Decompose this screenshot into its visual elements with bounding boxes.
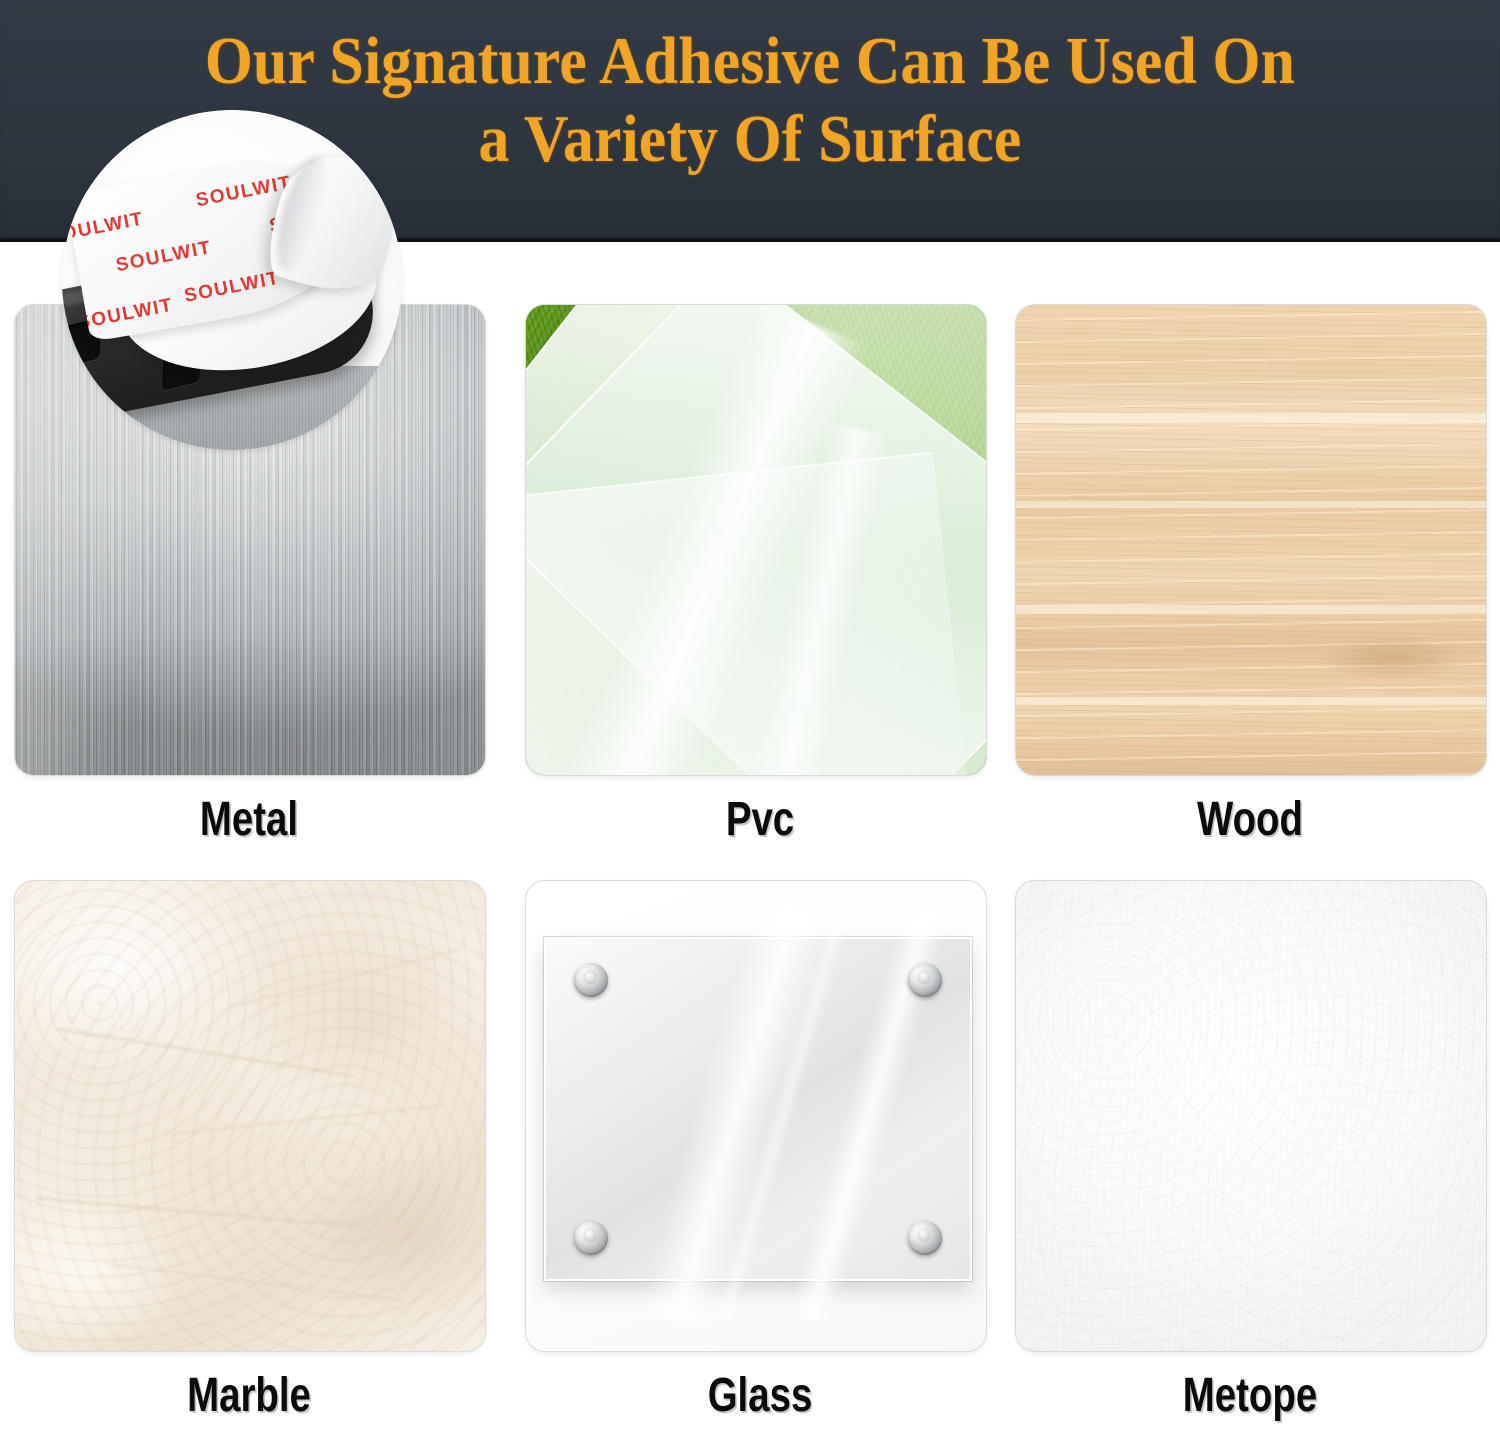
wood-grain-band bbox=[1016, 605, 1486, 614]
standoff-screw-icon bbox=[574, 1221, 608, 1255]
glass-panel bbox=[544, 937, 972, 1281]
surface-card-pvc: Pvc bbox=[525, 304, 995, 848]
surface-swatch-glass bbox=[525, 880, 987, 1352]
surface-label-wood: Wood bbox=[1062, 792, 1438, 848]
surface-swatch-wood bbox=[1015, 304, 1487, 776]
surface-label-pvc: Pvc bbox=[572, 792, 948, 848]
infographic-page: Our Signature Adhesive Can Be Used On a … bbox=[0, 0, 1500, 1437]
surface-label-glass: Glass bbox=[572, 1368, 948, 1424]
wood-knot bbox=[1316, 635, 1466, 681]
surface-label-metope: Metope bbox=[1062, 1368, 1438, 1424]
wood-grain-band bbox=[1016, 501, 1486, 508]
standoff-screw-icon bbox=[908, 963, 942, 997]
brand-watermark: SOULWIT bbox=[76, 295, 175, 335]
surface-card-metope: Metope bbox=[1015, 880, 1485, 1424]
surface-card-marble: Marble bbox=[14, 880, 484, 1424]
plaster-texture bbox=[1016, 881, 1486, 1351]
brand-watermark: SOULWIT bbox=[65, 208, 146, 248]
brand-watermark: SOULWIT bbox=[114, 237, 213, 277]
surface-label-marble: Marble bbox=[61, 1368, 437, 1424]
surface-swatch-marble bbox=[14, 880, 486, 1352]
adhesive-product-inset: SOULWIT SOULWIT SOULWIT SOULWIT SOULWIT … bbox=[62, 110, 402, 450]
surface-label-metal: Metal bbox=[61, 792, 437, 848]
standoff-screw-icon bbox=[574, 963, 608, 997]
surface-swatch-pvc bbox=[525, 304, 987, 776]
surface-card-wood: Wood bbox=[1015, 304, 1485, 848]
surface-swatch-metope bbox=[1015, 880, 1487, 1352]
surface-card-glass: Glass bbox=[525, 880, 995, 1424]
wood-grain-band bbox=[1016, 697, 1486, 705]
standoff-screw-icon bbox=[908, 1221, 942, 1255]
brand-watermark: SOULWIT bbox=[183, 268, 282, 308]
wood-grain-band bbox=[1016, 413, 1486, 423]
